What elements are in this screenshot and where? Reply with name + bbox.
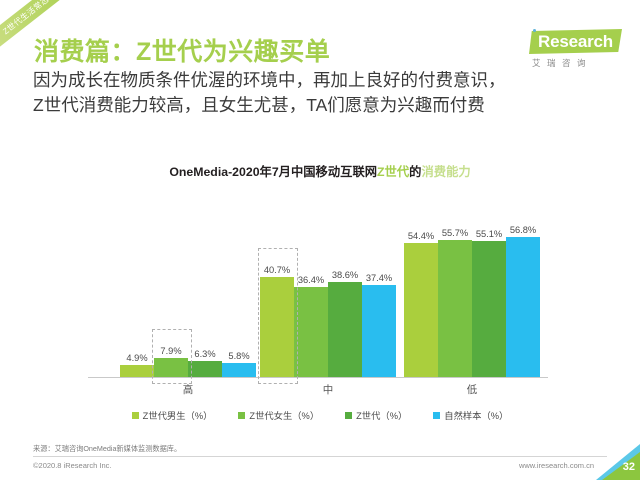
website-url: www.iresearch.com.cn (519, 461, 594, 470)
legend-swatch-icon (433, 412, 440, 419)
bar-rect (404, 243, 438, 377)
bar-value-label: 4.9% (126, 353, 147, 363)
bar[interactable]: 4.9% (120, 365, 154, 377)
bar-value-label: 37.4% (366, 273, 392, 283)
bar-value-label: 56.8% (510, 225, 536, 235)
logo-i-dot-icon (533, 29, 536, 32)
chart-title: OneMedia-2020年7月中国移动互联网Z世代的消费能力 (12, 162, 628, 180)
bar-value-label: 5.8% (228, 351, 249, 361)
bar-rect (362, 285, 396, 377)
bar-value-label: 38.6% (332, 270, 358, 280)
page-title: 消费篇：Z世代为兴趣买单 (34, 32, 330, 68)
legend-item-2[interactable]: Z世代（%） (345, 408, 407, 422)
page-subtitle: 因为成长在物质条件优渥的环境中，再加上良好的付费意识， Z世代消费能力较高，且女… (33, 68, 623, 118)
copyright-note: ©2020.8 iResearch Inc. (33, 461, 112, 470)
bar[interactable]: 56.8% (506, 237, 540, 377)
legend-swatch-icon (132, 412, 139, 419)
logo-mark: i Research (510, 28, 622, 55)
bar-group-1: 40.7%36.4%38.6%37.4% (260, 196, 396, 377)
category-label-2: 低 (402, 382, 542, 397)
bar-rect (154, 358, 188, 377)
logo-letter-i: i (530, 31, 536, 52)
category-label-1: 中 (258, 382, 398, 397)
bar[interactable]: 55.7% (438, 240, 472, 377)
bar-rect (222, 363, 256, 377)
slide-footer: 来源：艾瑞咨询OneMedia新媒体监测数据库。 ©2020.8 iResear… (0, 440, 640, 480)
bar-value-label: 55.7% (442, 228, 468, 238)
slide-header: 消费篇：Z世代为兴趣买单 因为成长在物质条件优渥的环境中，再加上良好的付费意识，… (0, 0, 640, 130)
category-label-0: 高 (118, 382, 258, 397)
bar-value-label: 36.4% (298, 275, 324, 285)
bar[interactable]: 40.7% (260, 277, 294, 377)
bar[interactable]: 36.4% (294, 287, 328, 377)
page-number: 32 (623, 461, 635, 473)
bar-rect (472, 241, 506, 377)
bar-rect (506, 237, 540, 377)
chart-title-segment-1: OneMedia-2020年7月中国移动互联网 (169, 165, 377, 179)
bar-rect (328, 282, 362, 377)
slide-canvas: Z世代生活常态 消费篇：Z世代为兴趣买单 因为成长在物质条件优渥的环境中，再加上… (0, 0, 640, 480)
chart-card: OneMedia-2020年7月中国移动互联网Z世代的消费能力 4.9%7.9%… (12, 140, 628, 436)
legend-swatch-icon (345, 412, 352, 419)
page-subtitle-line-2: Z世代消费能力较高，且女生尤甚，TA们愿意为兴趣而付费 (33, 93, 623, 118)
bar[interactable]: 38.6% (328, 282, 362, 377)
bar[interactable]: 37.4% (362, 285, 396, 377)
bar-value-label: 54.4% (408, 231, 434, 241)
bar[interactable]: 5.8% (222, 363, 256, 377)
chart-plot-area: 4.9%7.9%6.3%5.8%高40.7%36.4%38.6%37.4%中54… (12, 196, 628, 378)
legend-label: Z世代（%） (356, 408, 407, 422)
bar[interactable]: 54.4% (404, 243, 438, 377)
bar-value-label: 6.3% (194, 349, 215, 359)
bar-group-2: 54.4%55.7%55.1%56.8% (404, 196, 540, 377)
bar[interactable]: 55.1% (472, 241, 506, 377)
bar-rect (438, 240, 472, 377)
bar-rect (120, 365, 154, 377)
footer-divider (33, 456, 607, 457)
logo-wordmark: Research (538, 32, 613, 52)
bar-group-0: 4.9%7.9%6.3%5.8% (120, 196, 256, 377)
legend-item-3[interactable]: 自然样本（%） (433, 408, 508, 422)
chart-title-segment-4: 消费能力 (421, 165, 470, 179)
legend-swatch-icon (238, 412, 245, 419)
chart-title-segment-3: 的 (409, 165, 421, 179)
iresearch-logo: i Research 艾瑞咨询 (510, 28, 622, 74)
bar-rect (188, 361, 222, 377)
chart-title-segment-2: Z世代 (377, 165, 409, 179)
legend-label: Z世代男生（%） (143, 408, 213, 422)
chart-legend: Z世代男生（%）Z世代女生（%）Z世代（%）自然样本（%） (12, 408, 628, 422)
legend-label: Z世代女生（%） (249, 408, 319, 422)
bar[interactable]: 6.3% (188, 361, 222, 377)
legend-item-0[interactable]: Z世代男生（%） (132, 408, 213, 422)
legend-item-1[interactable]: Z世代女生（%） (238, 408, 319, 422)
bar-rect (260, 277, 294, 377)
bar-value-label: 55.1% (476, 229, 502, 239)
legend-label: 自然样本（%） (444, 408, 508, 422)
bar-value-label: 7.9% (160, 346, 181, 356)
bar-rect (294, 287, 328, 377)
bar-value-label: 40.7% (264, 265, 290, 275)
source-note: 来源：艾瑞咨询OneMedia新媒体监测数据库。 (33, 444, 181, 454)
logo-chinese-name: 艾瑞咨询 (532, 57, 592, 69)
bar[interactable]: 7.9% (154, 358, 188, 377)
